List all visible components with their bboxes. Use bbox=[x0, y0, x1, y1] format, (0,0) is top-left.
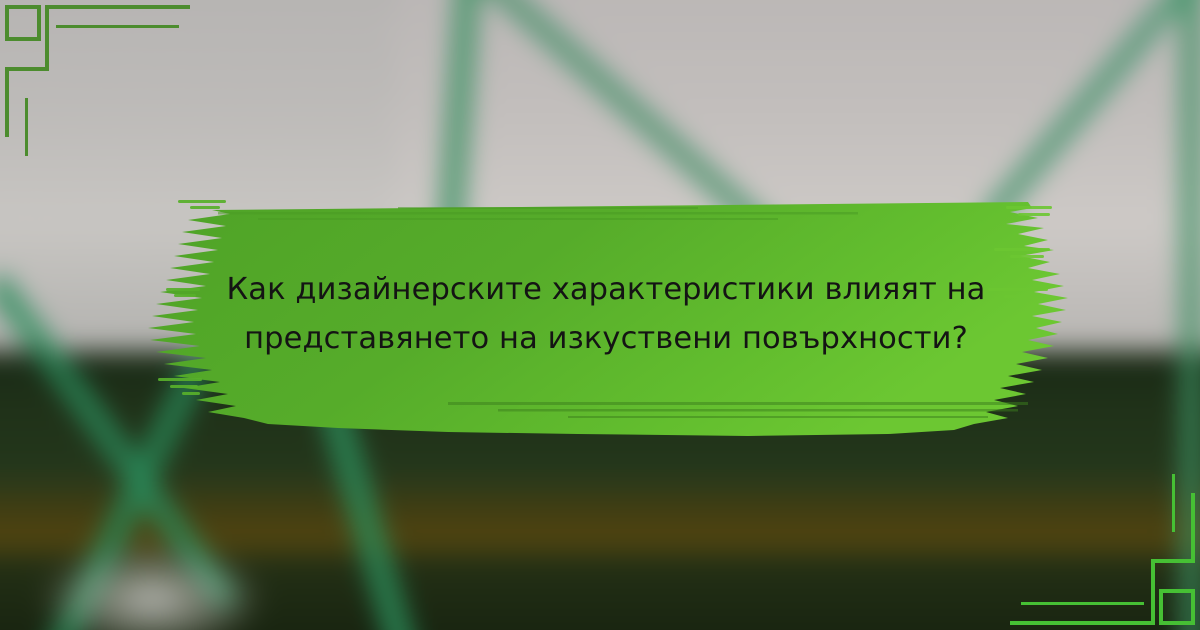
corner-line-horizontal-inner bbox=[56, 25, 179, 28]
corner-frame-top-left bbox=[0, 0, 200, 180]
corner-line-elbow-vertical bbox=[1151, 559, 1155, 625]
corner-line-horizontal-outer bbox=[1010, 621, 1155, 625]
background-highlight bbox=[37, 542, 267, 630]
page-title: Как дизайнерските характеристики влияят … bbox=[226, 265, 986, 364]
corner-line-elbow-horizontal bbox=[1151, 559, 1195, 563]
corner-line-vertical-outer bbox=[1191, 493, 1195, 563]
corner-line-horizontal-outer bbox=[45, 5, 190, 9]
corner-line-vertical-inner bbox=[25, 98, 28, 156]
corner-line-vertical-inner bbox=[1172, 474, 1175, 532]
corner-line-vertical-outer bbox=[5, 67, 9, 137]
corner-square-icon bbox=[1159, 589, 1195, 625]
corner-line-horizontal-inner bbox=[1021, 602, 1144, 605]
corner-frame-bottom-right bbox=[1000, 450, 1200, 630]
headline-banner: Как дизайнерските характеристики влияят … bbox=[148, 188, 1068, 440]
headline-block: Как дизайнерските характеристики влияят … bbox=[208, 188, 1004, 440]
corner-square-icon bbox=[5, 5, 41, 41]
share-card: Как дизайнерските характеристики влияят … bbox=[0, 0, 1200, 630]
corner-line-elbow-horizontal bbox=[5, 67, 49, 71]
corner-line-elbow-vertical bbox=[45, 5, 49, 71]
